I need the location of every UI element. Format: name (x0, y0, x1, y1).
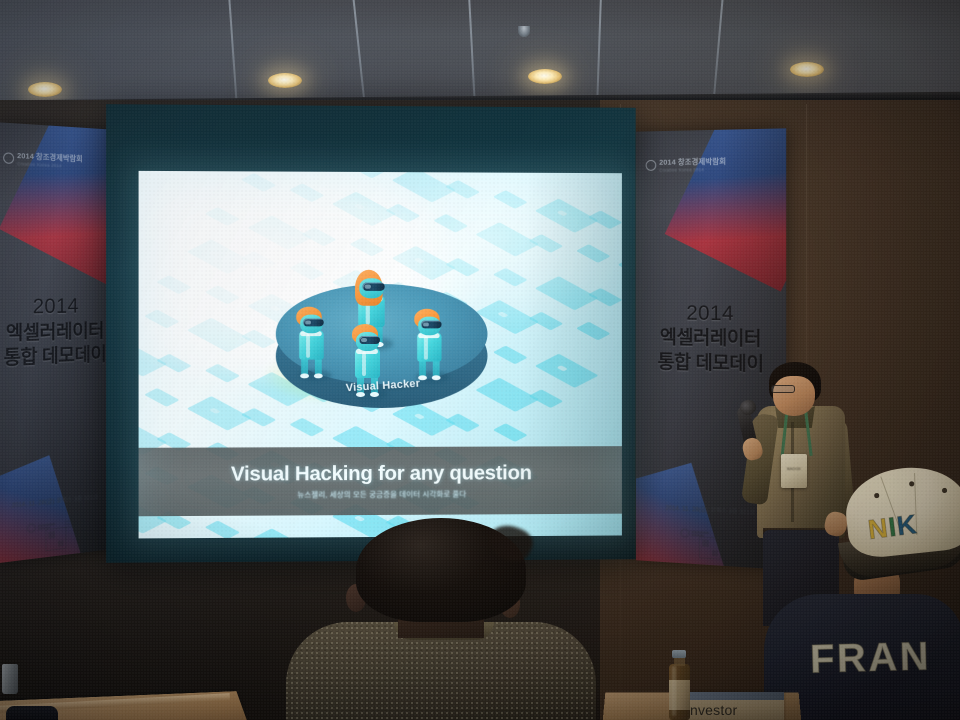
bottle-cap (672, 650, 686, 658)
glasses-icon (771, 385, 795, 393)
ceiling-vent (518, 26, 530, 37)
character-foot-2 (432, 375, 441, 380)
banner-line-3: 통합 데모데이 (3, 344, 106, 372)
slide-pattern-tile (205, 520, 241, 538)
sponsor-logo-2 (718, 531, 740, 539)
cap-eyelet-2 (909, 481, 914, 486)
banner-logo-icon (646, 160, 657, 171)
cap-eyelet-1 (874, 493, 879, 498)
banner-title-block: 2014 엑셀러레이터 통합 데모데이 (3, 294, 106, 372)
banner-line-2: 엑셀러레이터 (658, 327, 764, 353)
slide-pattern-tile (433, 214, 468, 233)
banner-logo-icon (3, 153, 14, 165)
slide-pattern-tile (445, 180, 480, 199)
banner-line-2: 엑셀러레이터 (3, 320, 106, 347)
slide-pattern-tile (493, 190, 528, 209)
slide-pattern-tile (493, 423, 528, 442)
sponsor-wordmark-2 (718, 531, 740, 539)
character-right (412, 309, 447, 383)
cap-brand-logo: NIK (866, 509, 919, 546)
placard-label: nvestor (690, 702, 737, 718)
slide-pattern-tile (535, 354, 599, 388)
bottle-highlight (672, 666, 676, 716)
sponsor-wordmark-2 (64, 519, 85, 528)
character-leg-2 (315, 358, 322, 377)
character-stripe (306, 334, 310, 358)
banner-date-line: 2014. 11. 28(금) 코엑스 3층 321호 (12, 492, 99, 510)
character-foot-2 (370, 392, 379, 397)
slide-pattern-tile (241, 173, 277, 192)
character-stripe (424, 336, 428, 359)
slide-pattern-tile (493, 346, 528, 365)
banner-eyebrow: 2014 창조경제박람회 Creative Korea 2014 (646, 158, 726, 173)
character-foot-2 (314, 373, 323, 378)
water-bottle (668, 650, 691, 720)
slide-caption-subtitle: 뉴스젤리, 세상의 모든 궁금증을 데이터 시각화로 풀다 (297, 489, 466, 501)
banner-eyebrow: 2014 창조경제박람회 Creative Korea 2014 (3, 151, 83, 169)
slide-pattern-tile (588, 210, 622, 229)
character-leg-1 (301, 358, 308, 377)
ceiling-light-tint (0, 0, 960, 103)
goggles-icon (303, 318, 324, 326)
slide-pattern-tile (144, 309, 180, 328)
character-left (294, 307, 329, 382)
slide-pattern-tile (289, 183, 324, 202)
drinking-cup (2, 664, 18, 694)
audience-member-tweed-jacket (262, 518, 602, 720)
slide-pattern-tile (576, 244, 611, 263)
slide-pattern-tile (528, 312, 563, 331)
banner-qr-code (45, 527, 66, 551)
banner-standee-left: 2014 창조경제박람회 Creative Korea 2014 2014 엑셀… (0, 122, 116, 564)
sponsor-logo-2 (64, 519, 85, 528)
goggles-icon (421, 321, 441, 329)
slide-pattern-tile (144, 388, 180, 407)
goggles-icon (359, 336, 380, 344)
ceiling (0, 0, 960, 103)
sponsor-mark-icon (680, 528, 689, 537)
cap-logo-letter-3: K (895, 509, 919, 541)
character-legs (301, 358, 322, 378)
character-leg-2 (433, 360, 440, 379)
jacket-back-text: FRAN (809, 634, 931, 682)
slide-pattern-tile (156, 354, 192, 373)
slide-pattern-tile (349, 171, 384, 179)
banner-qr-code (699, 536, 721, 559)
chair-backrest (6, 706, 58, 720)
slide-pattern-tile (247, 171, 312, 172)
banner-year: 2014 (3, 294, 106, 322)
table-placard: nvestor (688, 692, 784, 720)
banner-year: 2014 (658, 300, 764, 328)
slide-pattern-tile (576, 322, 611, 341)
slide-pattern-tile (301, 227, 336, 246)
slide-pattern-tile (588, 288, 622, 307)
cap-eyelet-3 (942, 488, 947, 493)
slide-platform-group: Visual Hacker (268, 262, 498, 423)
slide-pattern-tile (528, 234, 563, 253)
slide-caption-title: Visual Hacking for any question (231, 461, 532, 486)
sponsor-mark-icon (26, 523, 35, 533)
slide-pattern-tile (205, 207, 241, 226)
banner-eyebrow-subtitle: Creative Korea 2014 (659, 166, 726, 172)
slide-pattern-tile (618, 252, 622, 286)
projection-screen-surface: Visual Hacker Visual Hacking for any que… (139, 171, 622, 539)
bottle-neck (674, 657, 685, 666)
conference-photo-scene: 2014 창조경제박람회 Creative Korea 2014 2014 엑셀… (0, 0, 960, 720)
downlight-2 (268, 73, 302, 88)
banner-date-line: 2014. 11. 28(금) 코엑스 3층 321호 (665, 503, 755, 517)
character-foot-1 (300, 373, 309, 378)
goggles-icon (362, 282, 384, 291)
slide-pattern-tile (205, 364, 241, 383)
slide-pattern-tile (528, 389, 563, 408)
character-stripe (362, 352, 366, 376)
downlight-4 (790, 62, 824, 77)
downlight-1 (28, 82, 62, 97)
slide-pattern-tile (205, 285, 241, 304)
slide-pattern-tile (349, 238, 384, 257)
character-legs (419, 360, 439, 380)
slide-caption-band: Visual Hacking for any question 뉴스젤리, 세상… (139, 446, 622, 516)
slide-pattern-tile (493, 268, 528, 287)
audience-member-with-cap: NIK FRAN (784, 468, 960, 720)
downlight-3 (528, 69, 562, 84)
projection-screen-housing: Visual Hacker Visual Hacking for any que… (106, 104, 636, 563)
slide-pattern-tile (385, 204, 420, 223)
slide-pattern-tile (156, 275, 192, 294)
character-leg-1 (419, 360, 426, 379)
presenter-face (773, 376, 815, 416)
placard-header-strip (688, 692, 784, 700)
